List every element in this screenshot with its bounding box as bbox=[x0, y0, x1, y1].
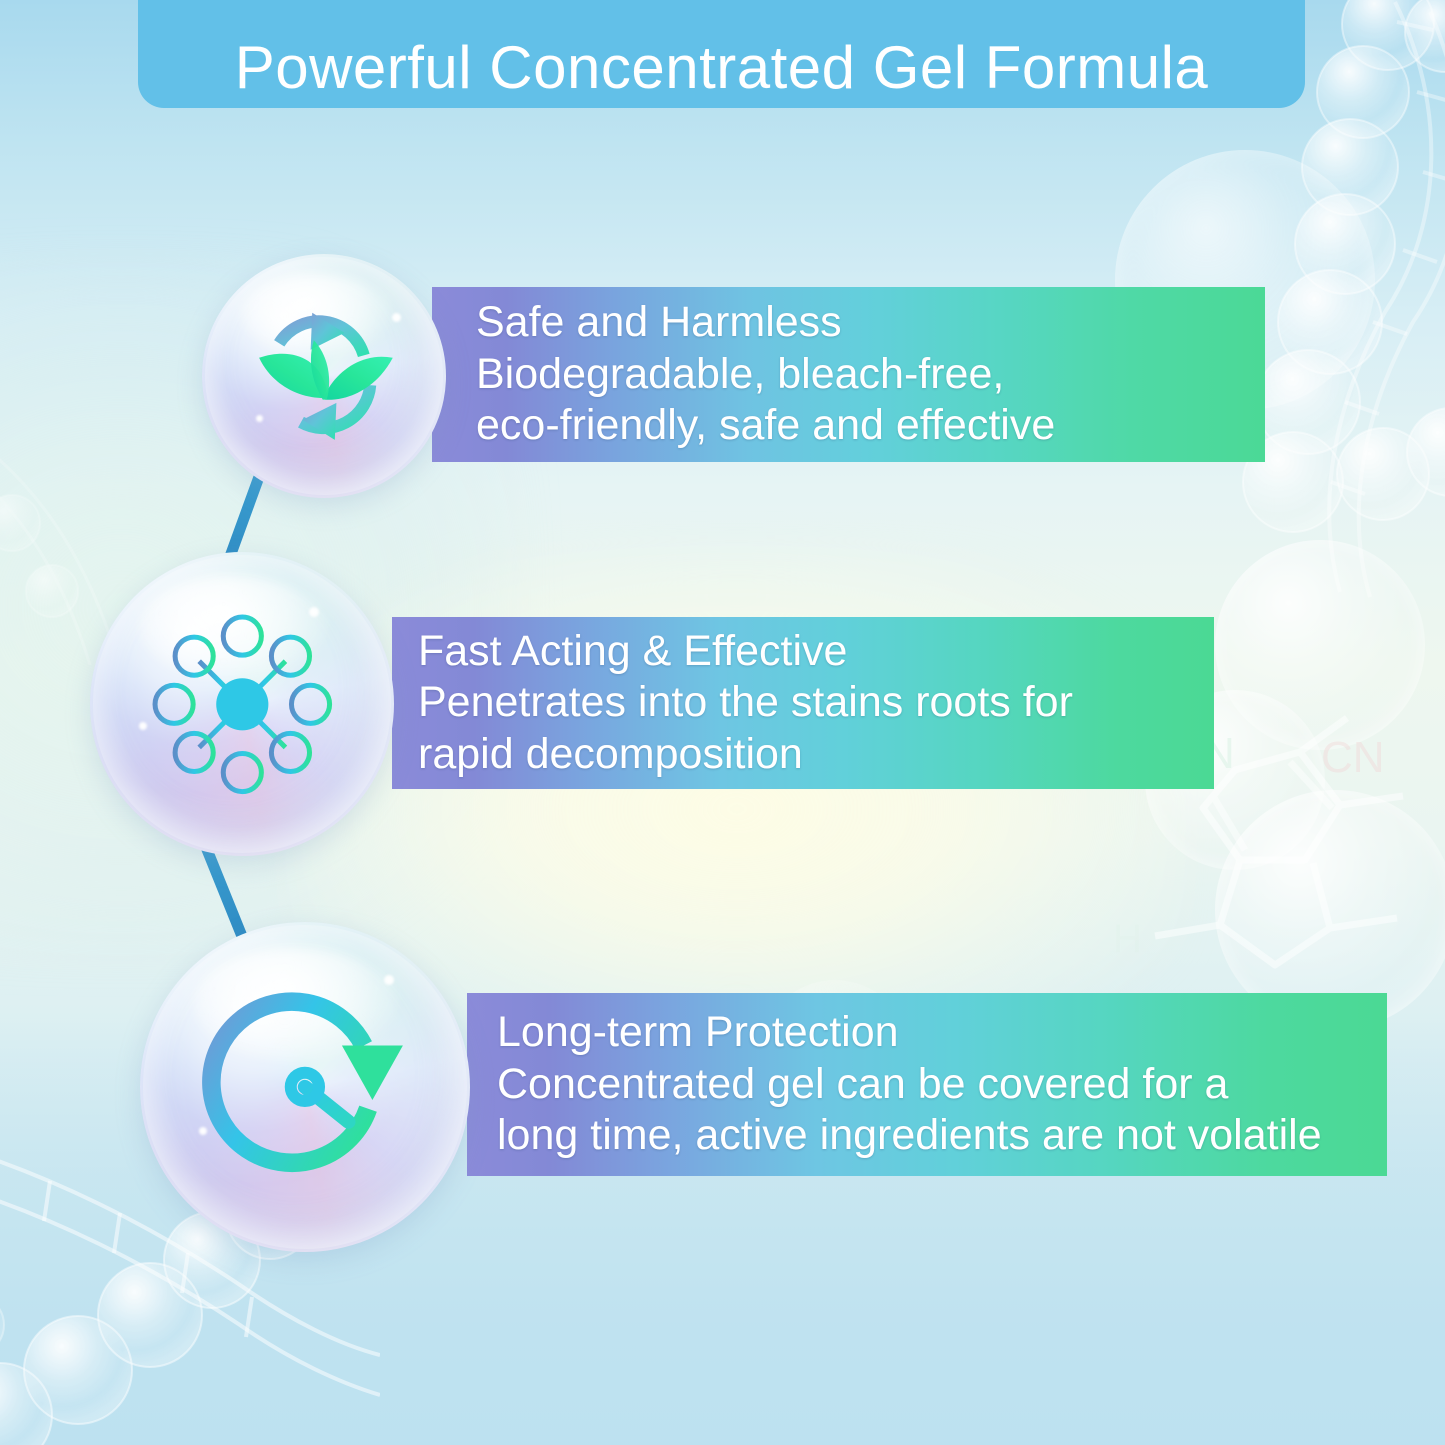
infographic-canvas: N CN H bbox=[0, 0, 1445, 1445]
eco-recycle-leaf-icon bbox=[243, 295, 404, 456]
feature-line: eco-friendly, safe and effective bbox=[476, 400, 1265, 452]
feature-panel-fast-acting-and-effective: Fast Acting & Effective Penetrates into … bbox=[392, 617, 1214, 789]
feature-title: Long-term Protection bbox=[497, 1007, 1387, 1059]
feature-bubble-safe-and-harmless bbox=[202, 254, 446, 498]
molecule-network-icon bbox=[142, 604, 343, 805]
feature-bubble-long-term-protection bbox=[140, 922, 470, 1252]
feature-line: rapid decomposition bbox=[418, 729, 1214, 781]
feature-line: long time, active ingredients are not vo… bbox=[497, 1110, 1387, 1162]
page-title: Powerful Concentrated Gel Formula bbox=[235, 38, 1209, 98]
feature-line: Concentrated gel can be covered for a bbox=[497, 1059, 1387, 1111]
feature-panel-long-term-protection: Long-term Protection Concentrated gel ca… bbox=[467, 993, 1387, 1176]
feature-line: Biodegradable, bleach-free, bbox=[476, 349, 1265, 401]
feature-title: Safe and Harmless bbox=[476, 297, 1265, 349]
feature-title: Fast Acting & Effective bbox=[418, 626, 1214, 678]
header-banner: Powerful Concentrated Gel Formula bbox=[138, 0, 1305, 108]
clock-arrow-icon bbox=[196, 978, 414, 1196]
feature-bubble-fast-acting-and-effective bbox=[90, 552, 394, 856]
feature-panel-safe-and-harmless: Safe and Harmless Biodegradable, bleach-… bbox=[432, 287, 1265, 462]
feature-line: Penetrates into the stains roots for bbox=[418, 677, 1214, 729]
